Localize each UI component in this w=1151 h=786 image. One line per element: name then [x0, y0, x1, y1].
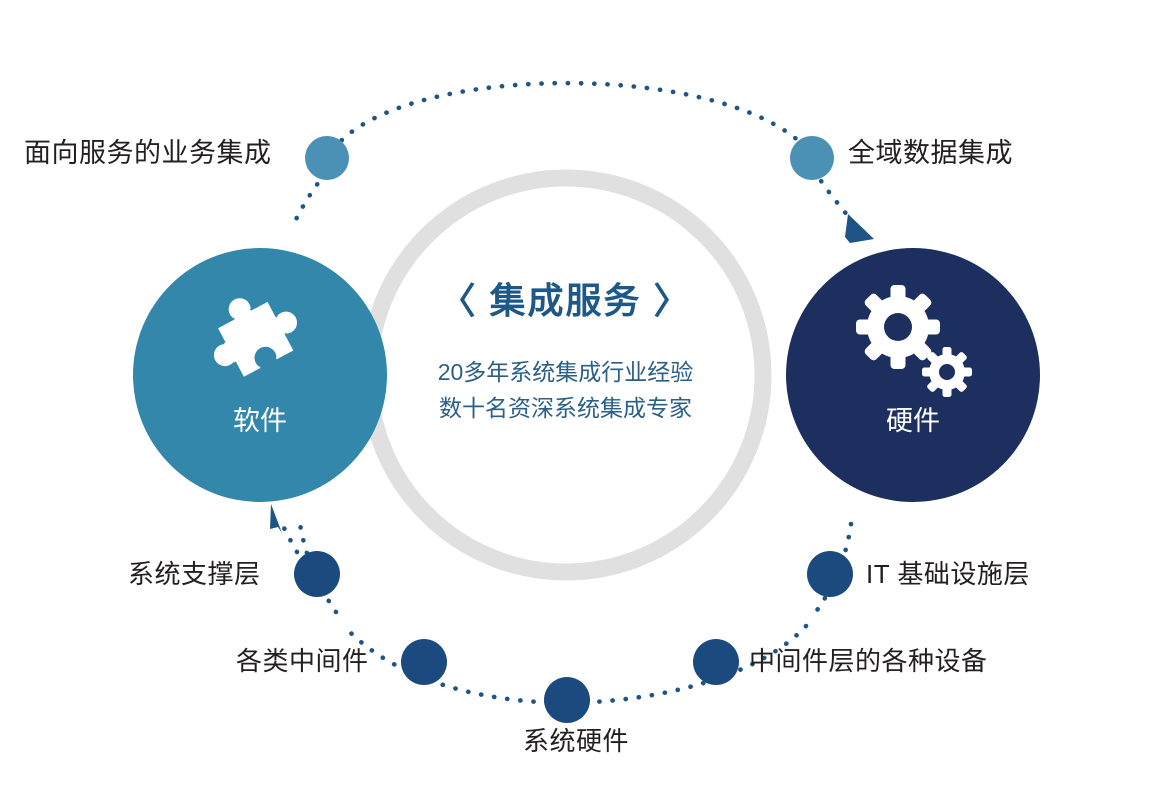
node-dot-middleware-types[interactable]: [401, 639, 447, 685]
top-dotted-arc: [333, 83, 812, 155]
node-label-middleware-devices[interactable]: 中间件层的各种设备: [749, 648, 988, 674]
software-circle-caption: 软件: [210, 408, 310, 435]
node-label-system-support-layer[interactable]: 系统支撑层: [128, 561, 261, 587]
node-label-it-infrastructure-layer[interactable]: IT 基础设施层: [866, 561, 1030, 587]
center-subtitle-line-2: 数十名资深系统集成专家: [393, 391, 738, 427]
node-label-soa-business-integration[interactable]: 面向服务的业务集成: [24, 140, 272, 167]
center-text-block: 〈 集成服务 〉 20多年系统集成行业经验 数十名资深系统集成专家: [393, 283, 738, 426]
hardware-circle-caption: 硬件: [863, 408, 963, 435]
hardware-circle[interactable]: [786, 248, 1040, 502]
node-label-middleware-types[interactable]: 各类中间件: [236, 648, 369, 674]
node-dot-middleware-devices[interactable]: [693, 639, 739, 685]
arrow-to-software-icon: [270, 504, 282, 533]
node-dot-system-support-layer[interactable]: [294, 551, 340, 597]
center-subtitle: 20多年系统集成行业经验 数十名资深系统集成专家: [393, 355, 738, 426]
integration-services-diagram: 〈 集成服务 〉 20多年系统集成行业经验 数十名资深系统集成专家 软件 硬件 …: [0, 0, 1151, 786]
node-dot-soa-business-integration[interactable]: [305, 136, 349, 180]
software-circle[interactable]: [133, 248, 387, 502]
center-subtitle-line-1: 20多年系统集成行业经验: [393, 355, 738, 391]
node-dot-global-data-integration[interactable]: [790, 136, 834, 180]
page-title: 〈 集成服务 〉: [393, 283, 738, 319]
node-dot-system-hardware[interactable]: [544, 677, 590, 723]
node-label-global-data-integration[interactable]: 全域数据集成: [848, 140, 1013, 167]
arrow-to-hardware-icon: [845, 214, 874, 243]
arrow-tail-to-software: [279, 518, 297, 552]
node-dot-it-infrastructure-layer[interactable]: [807, 551, 853, 597]
node-label-system-hardware[interactable]: 系统硬件: [523, 728, 629, 754]
